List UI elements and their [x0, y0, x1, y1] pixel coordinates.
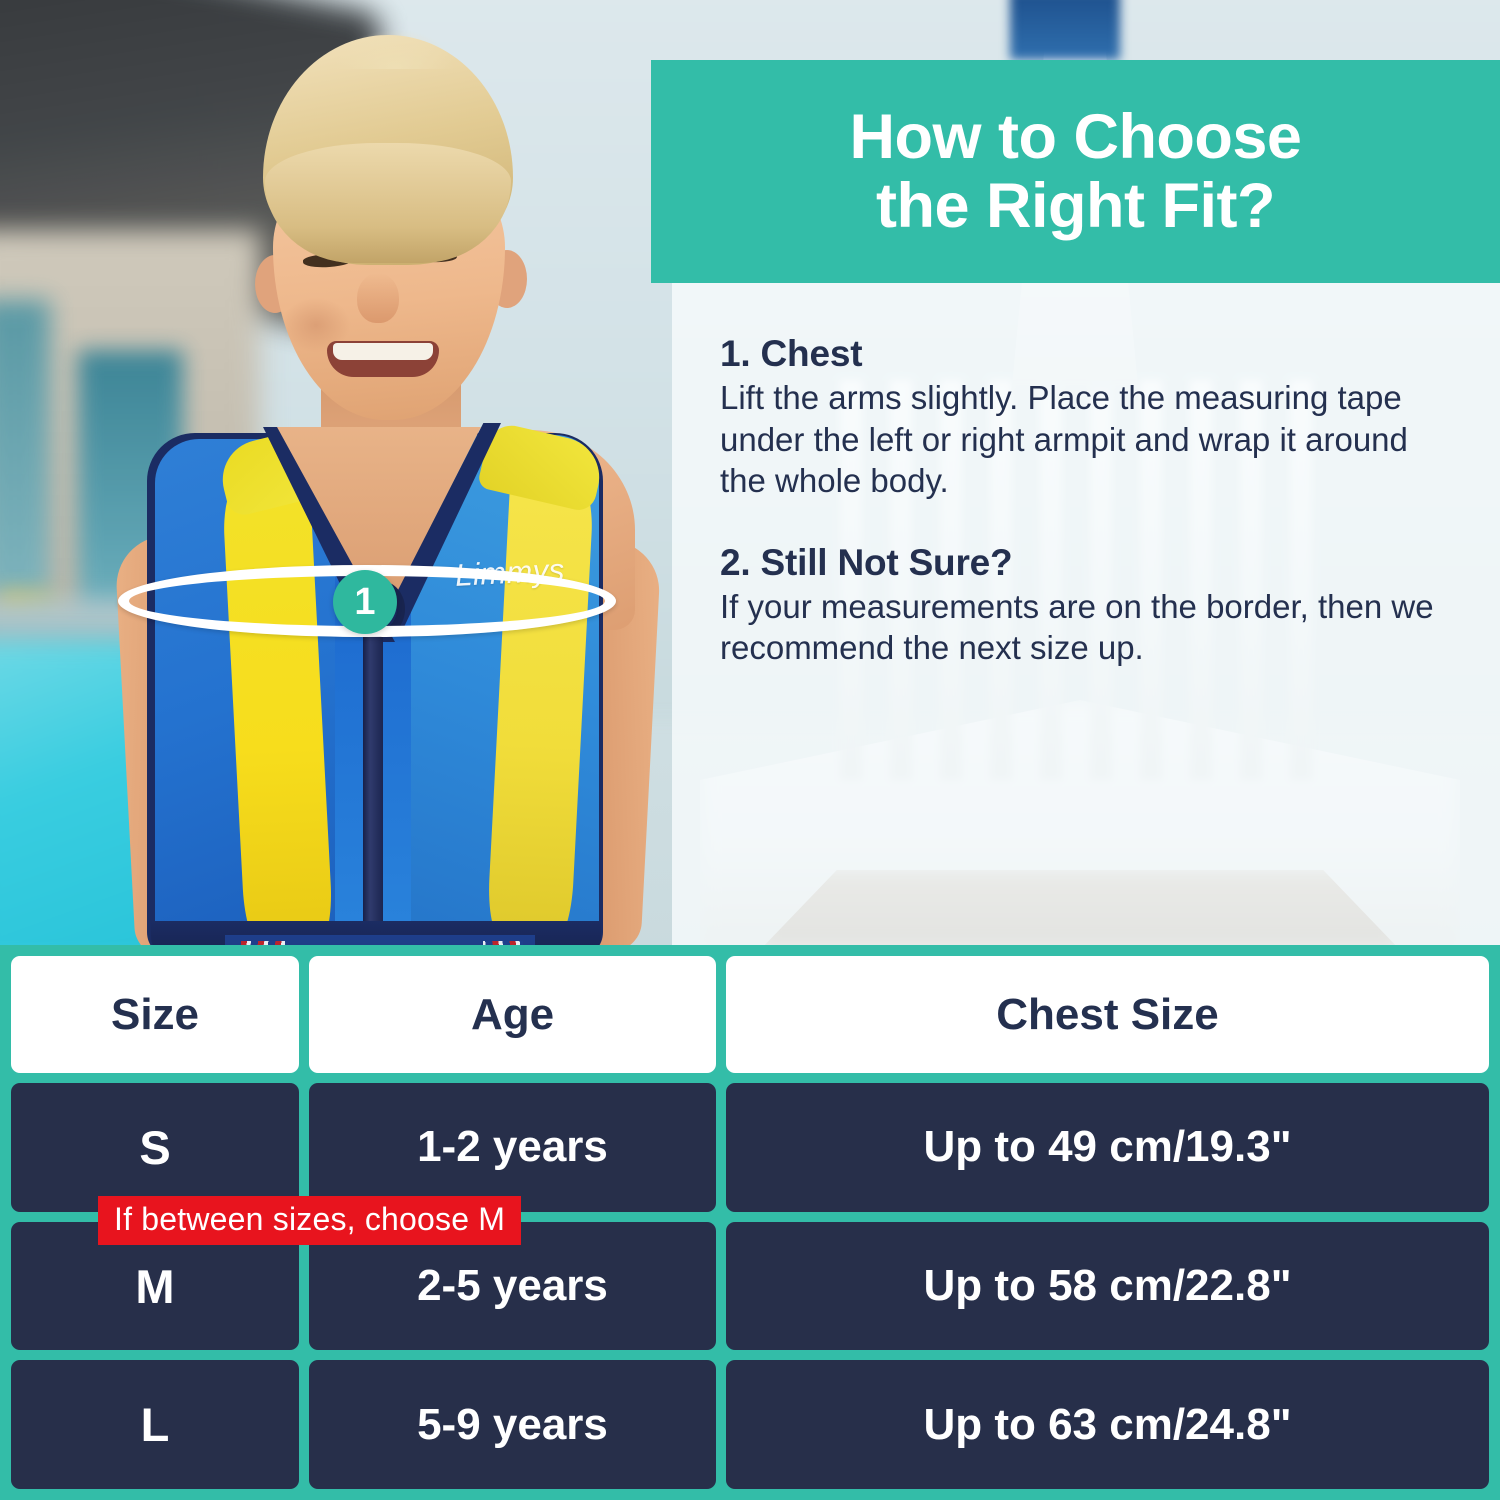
table-header-row: Size Age Chest Size — [11, 956, 1489, 1073]
column-header-chest: Chest Size — [726, 956, 1489, 1073]
step-1-badge: 1 — [333, 570, 397, 634]
child-teeth — [333, 343, 433, 360]
title-banner: How to Choose the Right Fit? — [651, 60, 1500, 283]
table-row: L 5-9 years Up to 63 cm/24.8" — [11, 1360, 1489, 1489]
child-hair-fringe — [265, 143, 511, 263]
step-2-heading: 2. Still Not Sure? — [720, 542, 1458, 584]
title-line-2: the Right Fit? — [876, 171, 1275, 241]
between-sizes-note: If between sizes, choose M — [98, 1196, 521, 1245]
child-hair-wisp — [335, 29, 455, 69]
title-line-1: How to Choose — [850, 102, 1302, 172]
step-1-body: Lift the arms slightly. Place the measur… — [720, 377, 1458, 502]
child-model: Limmys — [95, 35, 655, 950]
child-mouth — [327, 341, 439, 377]
cell-chest-m: Up to 58 cm/22.8" — [726, 1222, 1489, 1351]
table-row: S 1-2 years Up to 49 cm/19.3" — [11, 1083, 1489, 1212]
step-2-body: If your measurements are on the border, … — [720, 586, 1458, 669]
building-door-secondary — [0, 300, 50, 600]
jacket-zipper — [363, 595, 383, 950]
child-nose — [357, 273, 399, 323]
cell-age-l: 5-9 years — [309, 1360, 716, 1489]
page-title: How to Choose the Right Fit? — [850, 103, 1302, 239]
infographic-root: Limmys 1 How to Choose the Right F — [0, 0, 1500, 1500]
cell-chest-l: Up to 63 cm/24.8" — [726, 1360, 1489, 1489]
instructions-column: How to Choose the Right Fit? 1. Chest Li… — [651, 60, 1500, 950]
column-header-size: Size — [11, 956, 299, 1073]
cell-size-s: S — [11, 1083, 299, 1212]
step-spacer — [720, 502, 1458, 542]
fountain-emblem — [1010, 0, 1120, 60]
step-1-heading: 1. Chest — [720, 333, 1458, 375]
cell-size-l: L — [11, 1360, 299, 1489]
instructions-panel: 1. Chest Lift the arms slightly. Place t… — [672, 283, 1500, 950]
cell-chest-s: Up to 49 cm/19.3" — [726, 1083, 1489, 1212]
cell-age-s: 1-2 years — [309, 1083, 716, 1212]
column-header-age: Age — [309, 956, 716, 1073]
